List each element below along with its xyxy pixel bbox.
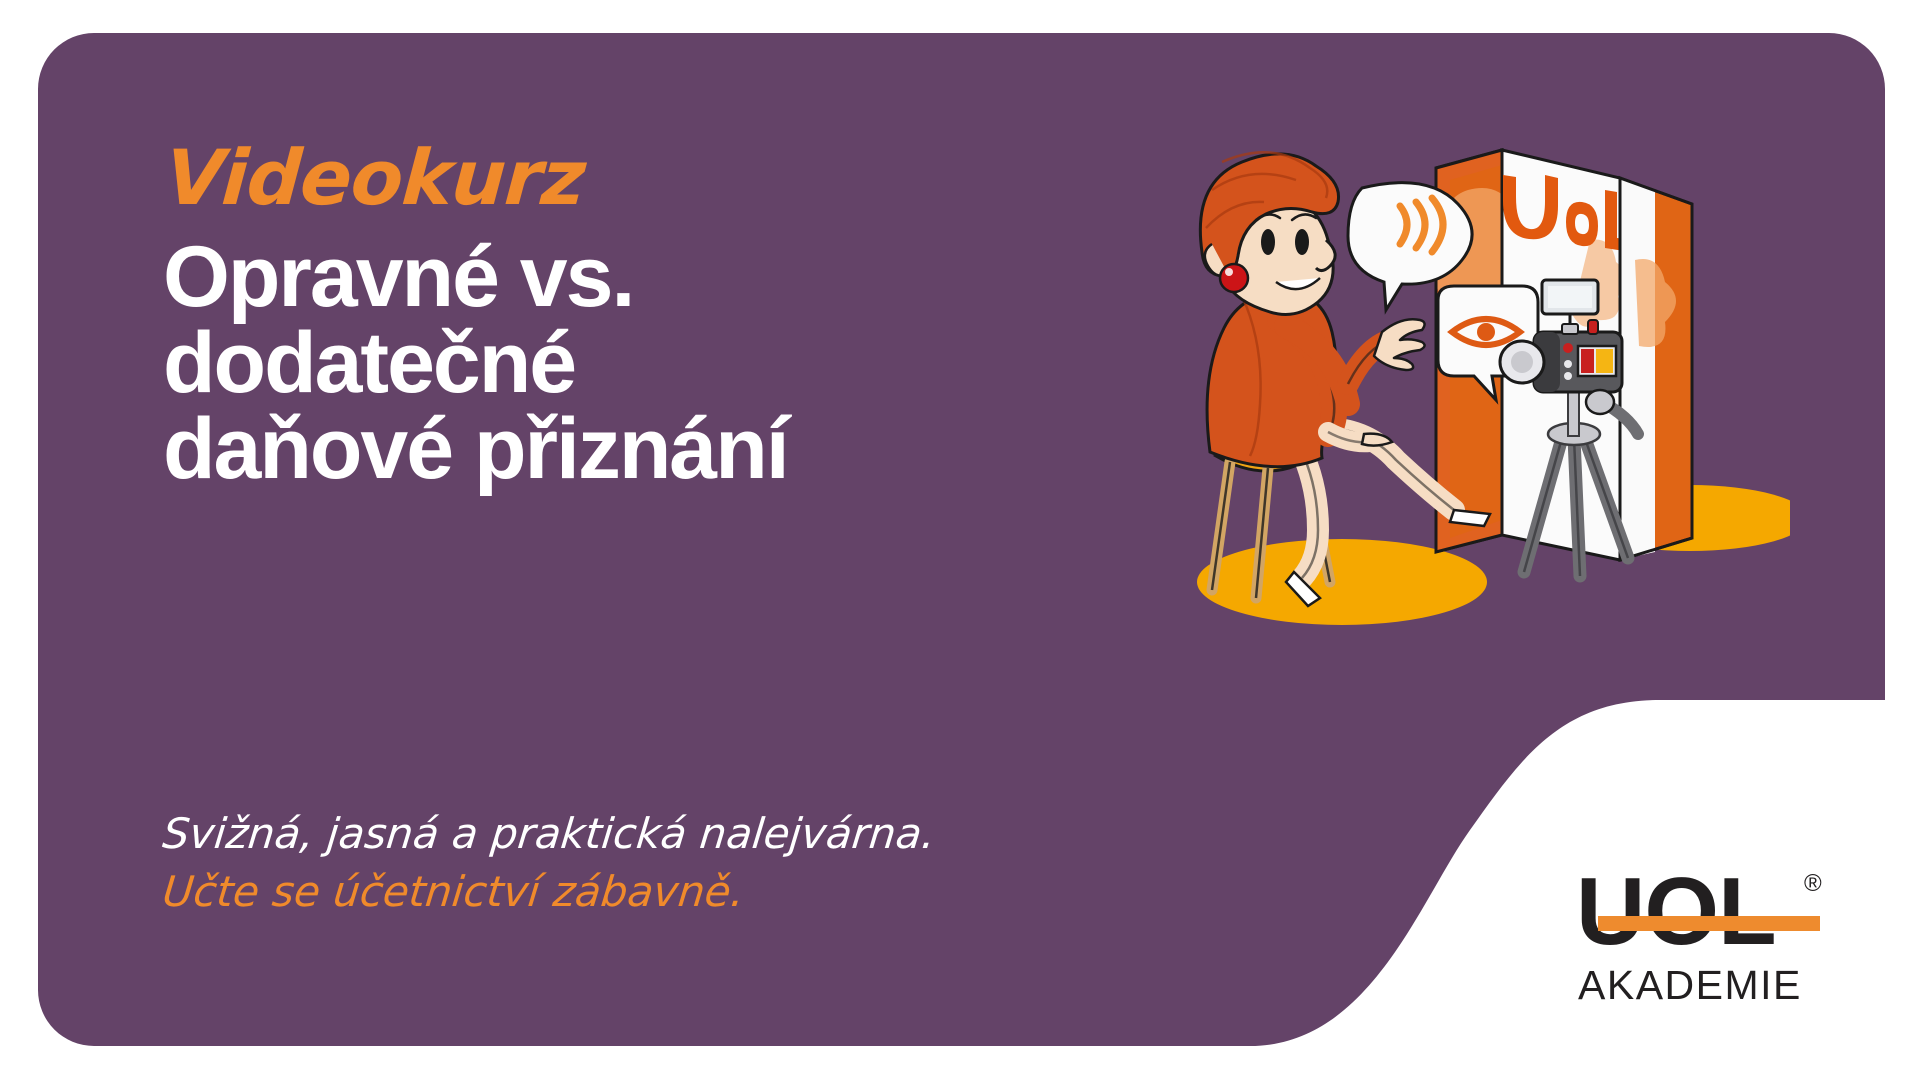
promo-banner: Videokurz Opravné vs. dodatečné daňové p… (0, 0, 1920, 1080)
eye-right (1295, 229, 1309, 255)
tagline-secondary: Učte se účetnictví zábavně. (160, 863, 1166, 921)
logo-orange-bar (1598, 916, 1820, 931)
headline-line-1: Opravné vs. (163, 234, 1063, 320)
tagline-block: Svižná, jasná a praktická nalejvárna. Uč… (163, 805, 1163, 921)
earring (1220, 264, 1248, 292)
logo-wordmark: UOL (1576, 866, 1821, 958)
uol-akademie-logo: UOL ® AKADEMIE (1576, 866, 1846, 1016)
lecturer-illustration (1150, 120, 1790, 640)
eye-left (1261, 229, 1275, 255)
backdrop-right-panel (1620, 178, 1692, 560)
floor-ellipse-left (1197, 539, 1487, 625)
headline-line-3: daňové přiznání (163, 406, 1063, 492)
logo-subtitle: AKADEMIE (1578, 962, 1846, 1009)
logo-mark: UOL ® (1576, 866, 1821, 958)
eyebrow-label: Videokurz (163, 140, 1068, 216)
headline-line-2: dodatečné (163, 320, 1063, 406)
lecturer-body (1207, 292, 1425, 467)
tagline-primary: Svižná, jasná a praktická nalejvárna. (160, 805, 1166, 863)
copy-block: Videokurz Opravné vs. dodatečné daňové p… (163, 140, 1063, 492)
page-title: Opravné vs. dodatečné daňové přiznání (163, 234, 1063, 492)
lecturer-hand (1374, 319, 1425, 370)
registered-trademark-icon: ® (1804, 872, 1822, 896)
lecturer-head (1200, 152, 1338, 314)
